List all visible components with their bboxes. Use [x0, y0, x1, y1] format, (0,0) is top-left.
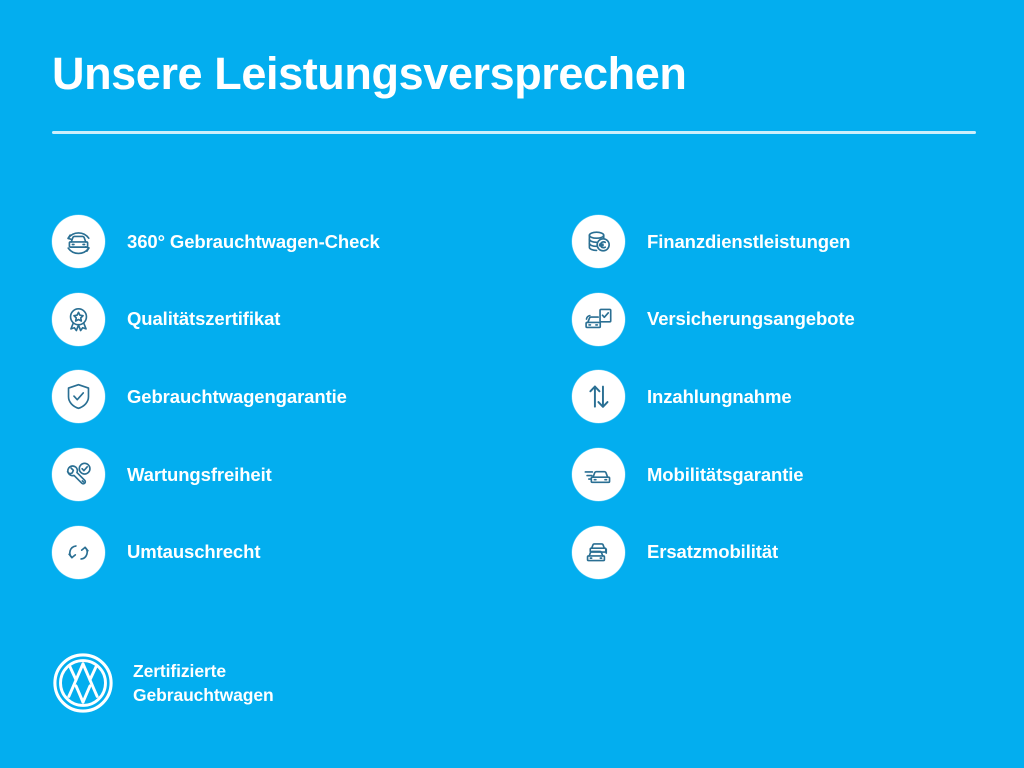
car-document-check-icon [572, 293, 625, 346]
feature-item-maintenance-free: Wartungsfreiheit [52, 436, 572, 514]
feature-item-trade-in: Inzahlungnahme [572, 358, 976, 436]
coins-euro-icon [572, 215, 625, 268]
award-rosette-icon [52, 293, 105, 346]
poster-header: Unsere Leistungsversprechen [52, 46, 976, 134]
feature-label: Finanzdienstleistungen [647, 231, 850, 253]
feature-label: Ersatzmobilität [647, 541, 778, 563]
feature-label: Wartungsfreiheit [127, 464, 272, 486]
feature-item-warranty: Gebrauchtwagengarantie [52, 358, 572, 436]
up-down-arrows-icon [572, 370, 625, 423]
brand-footer: Zertifizierte Gebrauchtwagen [52, 652, 274, 714]
brand-text: Zertifizierte Gebrauchtwagen [133, 659, 274, 707]
feature-label: Qualitätszertifikat [127, 308, 280, 330]
title-divider [52, 131, 976, 134]
feature-label: Inzahlungnahme [647, 386, 792, 408]
promise-poster: Unsere Leistungsversprechen 360° Gebrauc… [0, 0, 1024, 768]
shield-check-icon [52, 370, 105, 423]
feature-label: 360° Gebrauchtwagen-Check [127, 231, 380, 253]
exchange-arrows-icon [52, 526, 105, 579]
two-cars-icon [572, 526, 625, 579]
wrench-check-icon [52, 448, 105, 501]
feature-item-replacement-mobility: Ersatzmobilität [572, 513, 976, 591]
feature-item-360-check: 360° Gebrauchtwagen-Check [52, 203, 572, 281]
feature-item-mobility-guarantee: Mobilitätsgarantie [572, 436, 976, 514]
car-360-check-icon [52, 215, 105, 268]
brand-line-1: Zertifizierte [133, 659, 274, 683]
car-motion-icon [572, 448, 625, 501]
feature-label: Mobilitätsgarantie [647, 464, 804, 486]
page-title: Unsere Leistungsversprechen [52, 46, 976, 102]
feature-item-quality-certificate: Qualitätszertifikat [52, 281, 572, 359]
volkswagen-logo-icon [52, 652, 114, 714]
feature-item-insurance-offers: Versicherungsangebote [572, 281, 976, 359]
brand-line-2: Gebrauchtwagen [133, 683, 274, 707]
feature-item-financial-services: Finanzdienstleistungen [572, 203, 976, 281]
feature-label: Umtauschrecht [127, 541, 260, 563]
features-grid: 360° Gebrauchtwagen-Check Finanzdienstle… [52, 203, 976, 591]
feature-label: Versicherungsangebote [647, 308, 855, 330]
feature-item-exchange-right: Umtauschrecht [52, 513, 572, 591]
feature-label: Gebrauchtwagengarantie [127, 386, 347, 408]
